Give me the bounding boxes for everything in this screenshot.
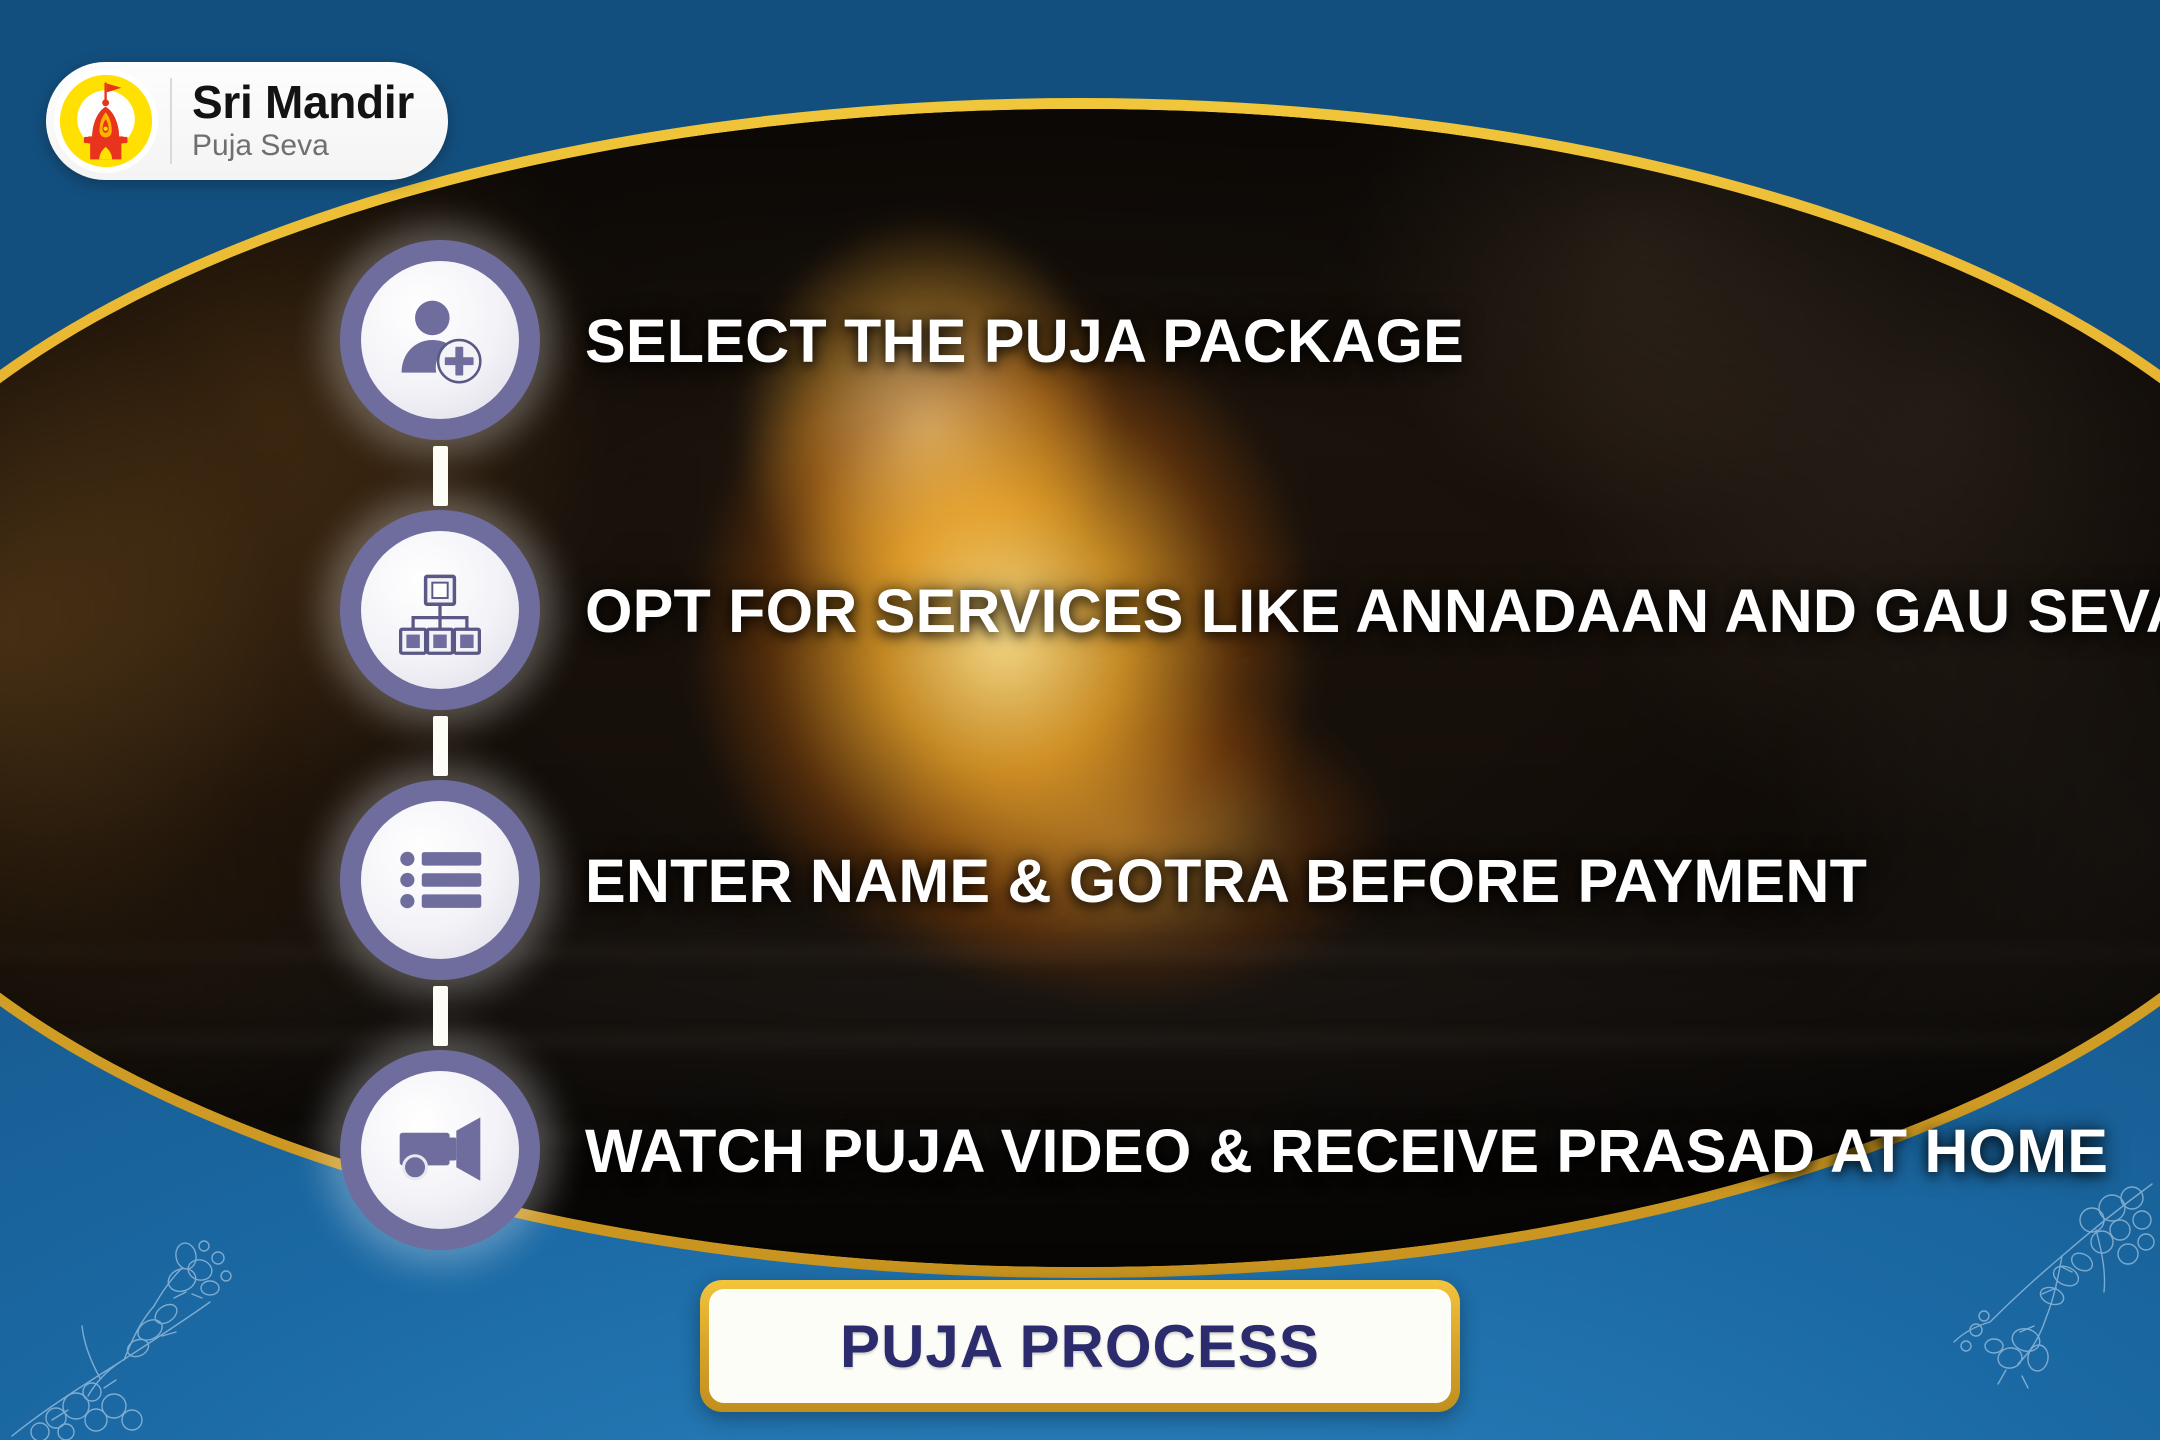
step-label: WATCH PUJA VIDEO & RECEIVE PRASAD AT HOM… (585, 1116, 2108, 1186)
bulleted-list-icon (340, 780, 540, 980)
video-camera-icon (340, 1050, 540, 1250)
puja-process-label: PUJA PROCESS (840, 1312, 1320, 1381)
temple-logo-icon (54, 69, 158, 173)
step-connector (433, 986, 448, 1046)
brand-title: Sri Mandir (192, 78, 414, 127)
step-item[interactable]: SELECT THE PUJA PACKAGE (340, 240, 2100, 510)
add-user-icon (340, 240, 540, 440)
step-connector (433, 446, 448, 506)
puja-process-banner[interactable]: PUJA PROCESS (700, 1280, 1460, 1412)
step-connector (433, 716, 448, 776)
step-label: ENTER NAME & GOTRA BEFORE PAYMENT (585, 846, 1867, 916)
step-label: OPT FOR SERVICES LIKE ANNADAAN AND GAU S… (585, 576, 2160, 646)
step-label: SELECT THE PUJA PACKAGE (585, 306, 1464, 376)
hierarchy-sitemap-icon (340, 510, 540, 710)
brand-subtitle: Puja Seva (192, 128, 414, 164)
puja-steps-list: SELECT THE PUJA PACKAGE (340, 240, 2100, 1320)
poster-canvas: Sri Mandir Puja Seva SELECT THE PUJA PAC… (0, 0, 2160, 1440)
brand-badge[interactable]: Sri Mandir Puja Seva (46, 62, 448, 180)
brand-divider (170, 78, 172, 164)
step-item[interactable]: OPT FOR SERVICES LIKE ANNADAAN AND GAU S… (340, 510, 2100, 780)
step-item[interactable]: ENTER NAME & GOTRA BEFORE PAYMENT (340, 780, 2100, 1050)
